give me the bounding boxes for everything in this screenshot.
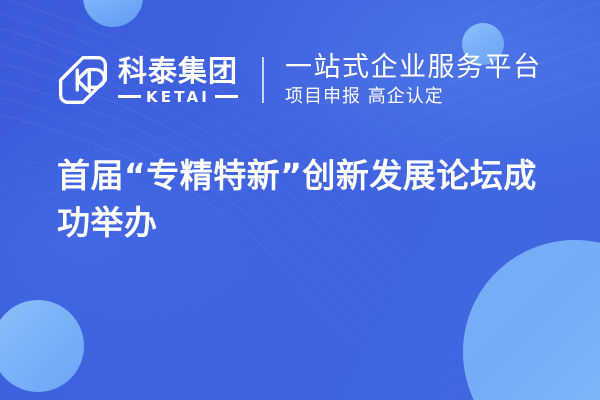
promo-banner: 科泰集团 KETAI 一站式企业服务平台 项目申报 高企认定 首届“专精特新”创… [0,0,600,400]
page-title: 首届“专精特新”创新发展论坛成功举办 [57,152,557,246]
brand-name-cn: 科泰集团 [118,56,238,87]
brand-wordmark: 科泰集团 KETAI [118,56,238,105]
ketai-diamond-kd-logo-icon [57,54,109,106]
header-divider [262,57,264,103]
wordmark-rule-right [215,95,238,98]
brand-name-en: KETAI [146,89,210,105]
brand-name-en-row: KETAI [118,89,238,105]
tagline-sub: 项目申报 高企认定 [285,85,542,109]
brand-logo[interactable]: 科泰集团 KETAI [57,54,238,106]
brand-tagline: 一站式企业服务平台 项目申报 高企认定 [285,52,542,109]
tagline-main: 一站式企业服务平台 [285,52,542,83]
banner-header: 科泰集团 KETAI 一站式企业服务平台 项目申报 高企认定 [0,42,600,118]
wordmark-rule-left [118,95,141,98]
